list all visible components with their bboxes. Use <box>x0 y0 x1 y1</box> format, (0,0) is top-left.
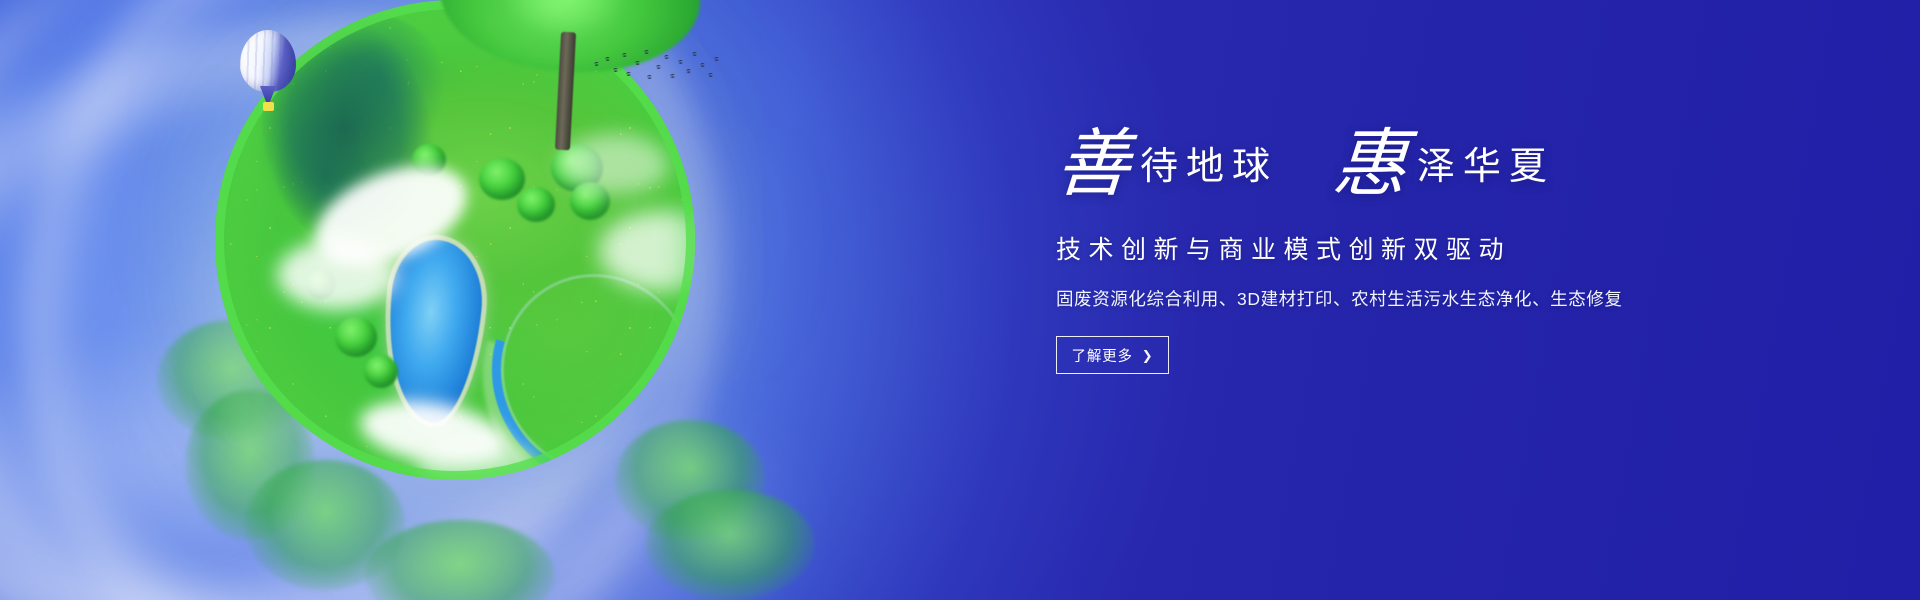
headline-char-hui: 惠 <box>1330 128 1409 202</box>
headline-char-shan: 善 <box>1053 128 1132 202</box>
headline: 善待地球 惠泽华夏 <box>1056 122 1716 214</box>
hot-air-balloon-icon <box>240 30 296 118</box>
foreground-tree <box>645 490 815 600</box>
hero-banner: 善待地球 惠泽华夏 技术创新与商业模式创新双驱动 固废资源化综合利用、3D建材打… <box>0 0 1920 600</box>
bird-flock-icon <box>592 48 722 92</box>
banner-content: 善待地球 惠泽华夏 技术创新与商业模式创新双驱动 固废资源化综合利用、3D建材打… <box>1056 122 1716 374</box>
learn-more-label: 了解更多 <box>1072 345 1133 366</box>
balloon-taper <box>260 86 276 102</box>
subtitle: 技术创新与商业模式创新双驱动 <box>1056 230 1716 266</box>
balloon-envelope <box>240 30 296 92</box>
learn-more-button[interactable]: 了解更多 ❯ <box>1056 336 1169 374</box>
balloon-basket <box>263 102 274 111</box>
description: 固废资源化综合利用、3D建材打印、农村生活污水生态净化、生态修复 <box>1056 286 1716 311</box>
headline-phrase-daidiqiu: 待地球 <box>1140 148 1278 186</box>
chevron-right-icon: ❯ <box>1142 349 1154 362</box>
headline-phrase-zehuaxia: 泽华夏 <box>1417 148 1555 186</box>
